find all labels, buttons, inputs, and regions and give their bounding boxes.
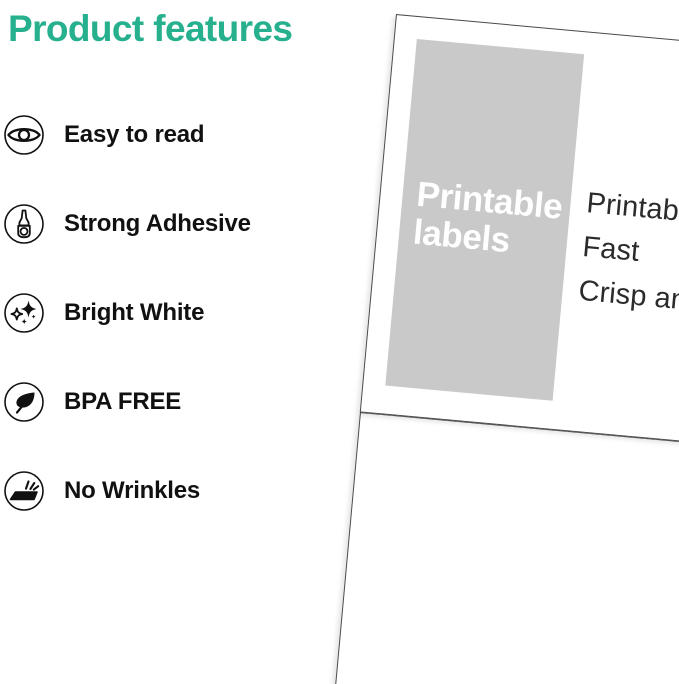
feature-label: Easy to read [64,114,204,156]
feature-row-strong-adhesive: Strong Adhesive [3,203,303,292]
printable-labels-panel: Printable labels [385,39,584,401]
sheet-text-column: Printabl Fast Crisp and [577,181,679,334]
feature-row-bpa-free: BPA FREE [3,381,303,470]
feature-row-bright-white: Bright White [3,292,303,381]
sheet-text-line-2: Fast [581,225,679,291]
leaf-icon [3,381,45,423]
feature-row-no-wrinkles: No Wrinkles [3,470,303,559]
sheet-text-line-1: Printabl [585,181,679,247]
eye-icon [3,114,45,156]
sheet-text-line-3: Crisp and [577,269,679,335]
feature-list: Easy to read Strong Adhesive Bright Whit… [3,114,303,559]
infographic-canvas: Printable labels Printabl Fast Crisp and… [0,0,679,684]
page-title: Product features [8,9,292,50]
label-sheet-lower [324,412,679,684]
panel-line-1: Printable [415,176,558,226]
feature-label: Bright White [64,292,204,334]
sparkles-icon [3,292,45,334]
feature-label: Strong Adhesive [64,203,251,245]
panel-line-2: labels [412,214,555,264]
feature-label: No Wrinkles [64,470,200,512]
iron-icon [3,470,45,512]
feature-label: BPA FREE [64,381,181,423]
feature-row-easy-to-read: Easy to read [3,114,303,203]
label-sheet-upper: Printable labels Printabl Fast Crisp and [360,14,679,451]
glue-bottle-icon [3,203,45,245]
